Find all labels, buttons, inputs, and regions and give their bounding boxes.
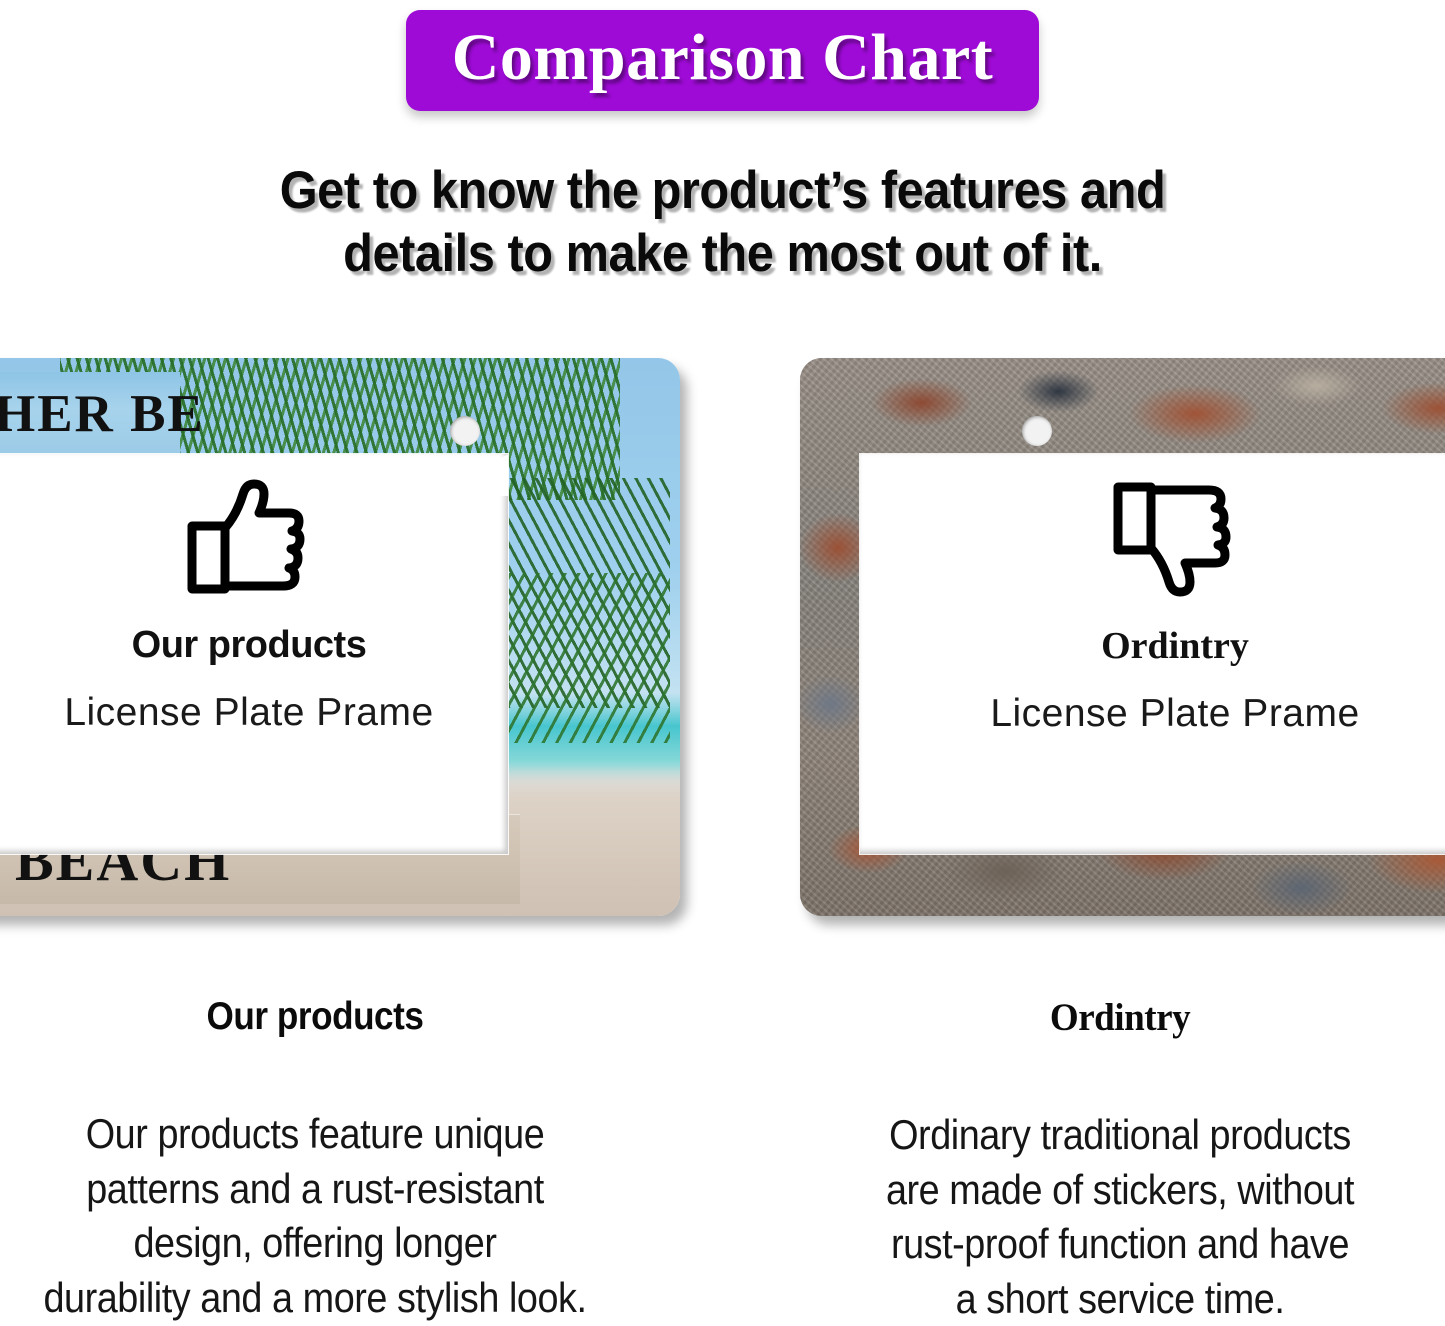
- plate-window-left: [0, 454, 508, 854]
- our-product-desc-heading: Our products: [18, 995, 612, 1039]
- desc-line: are made of stickers, without: [823, 1163, 1417, 1218]
- description-row: Our products Our products feature unique…: [0, 995, 1445, 1315]
- page-subtitle: Get to know the product’s features and d…: [58, 160, 1387, 285]
- product-frames-row: RATHER BE THE BEACH Our products License…: [0, 358, 1445, 918]
- ordinary-product-desc-body: Ordinary traditional products are made o…: [823, 1108, 1417, 1326]
- our-product-description-column: Our products Our products feature unique…: [0, 995, 645, 1325]
- mounting-hole-left: [450, 416, 480, 446]
- our-product-license-plate-frame: RATHER BE THE BEACH Our products License…: [0, 358, 680, 916]
- title-banner: Comparison Chart: [406, 10, 1040, 111]
- desc-line: rust-proof function and have: [823, 1217, 1417, 1272]
- page-title: Comparison Chart: [452, 24, 994, 91]
- plate-window-chamfer-left: [436, 454, 508, 496]
- ordinary-product-license-plate-frame: Ordintry License Plate Prame: [800, 358, 1445, 916]
- desc-line: patterns and a rust-resistant: [18, 1162, 612, 1217]
- plate-window-chamfer-right: [1418, 454, 1445, 496]
- mounting-hole-right: [1022, 416, 1052, 446]
- subtitle-line-1: Get to know the product’s features and: [58, 160, 1387, 223]
- ordinary-product-description-column: Ordintry Ordinary traditional products a…: [790, 995, 1445, 1326]
- desc-line: Ordinary traditional products: [823, 1108, 1417, 1163]
- subtitle-line-2: details to make the most out of it.: [58, 223, 1387, 286]
- ordinary-product-desc-heading: Ordintry: [807, 995, 1434, 1040]
- desc-line: a short service time.: [823, 1272, 1417, 1326]
- our-product-desc-body: Our products feature unique patterns and…: [18, 1107, 612, 1325]
- desc-line: durability and a more stylish look.: [18, 1271, 612, 1326]
- desc-line: Our products feature unique: [18, 1107, 612, 1162]
- desc-line: design, offering longer: [18, 1216, 612, 1271]
- title-banner-wrapper: Comparison Chart: [0, 10, 1445, 111]
- plate-text-top: RATHER BE: [0, 384, 205, 444]
- plate-window-right: [860, 454, 1445, 854]
